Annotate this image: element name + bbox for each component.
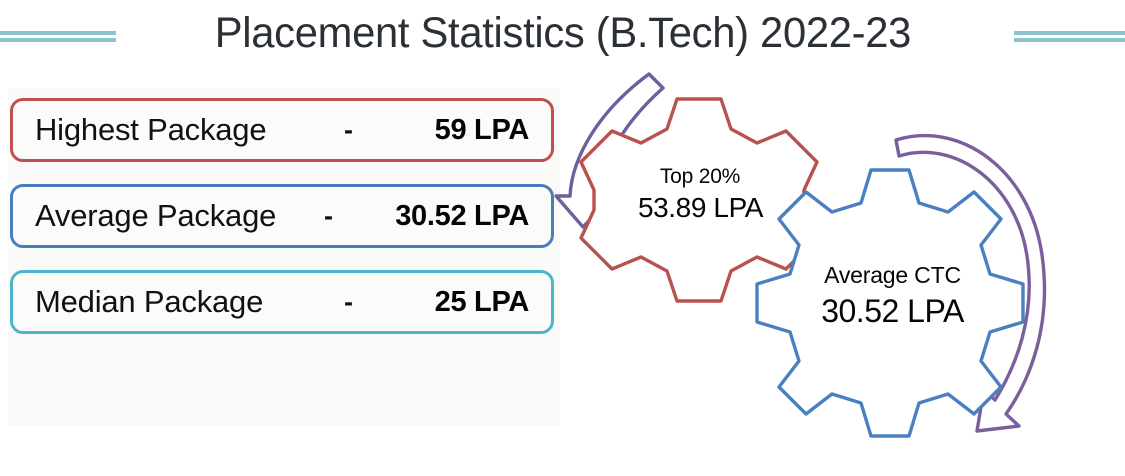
gears-and-arrows-artwork (0, 0, 1125, 476)
infographic-canvas: Placement Statistics (B.Tech) 2022-23 Hi… (0, 0, 1125, 476)
average-ctc-gear-caption: Average CTC (800, 262, 985, 289)
average-ctc-gear-value: 30.52 LPA (795, 293, 990, 330)
top-20-percent-gear-value: 53.89 LPA (608, 192, 793, 224)
top-20-percent-gear-caption: Top 20% (620, 165, 780, 189)
